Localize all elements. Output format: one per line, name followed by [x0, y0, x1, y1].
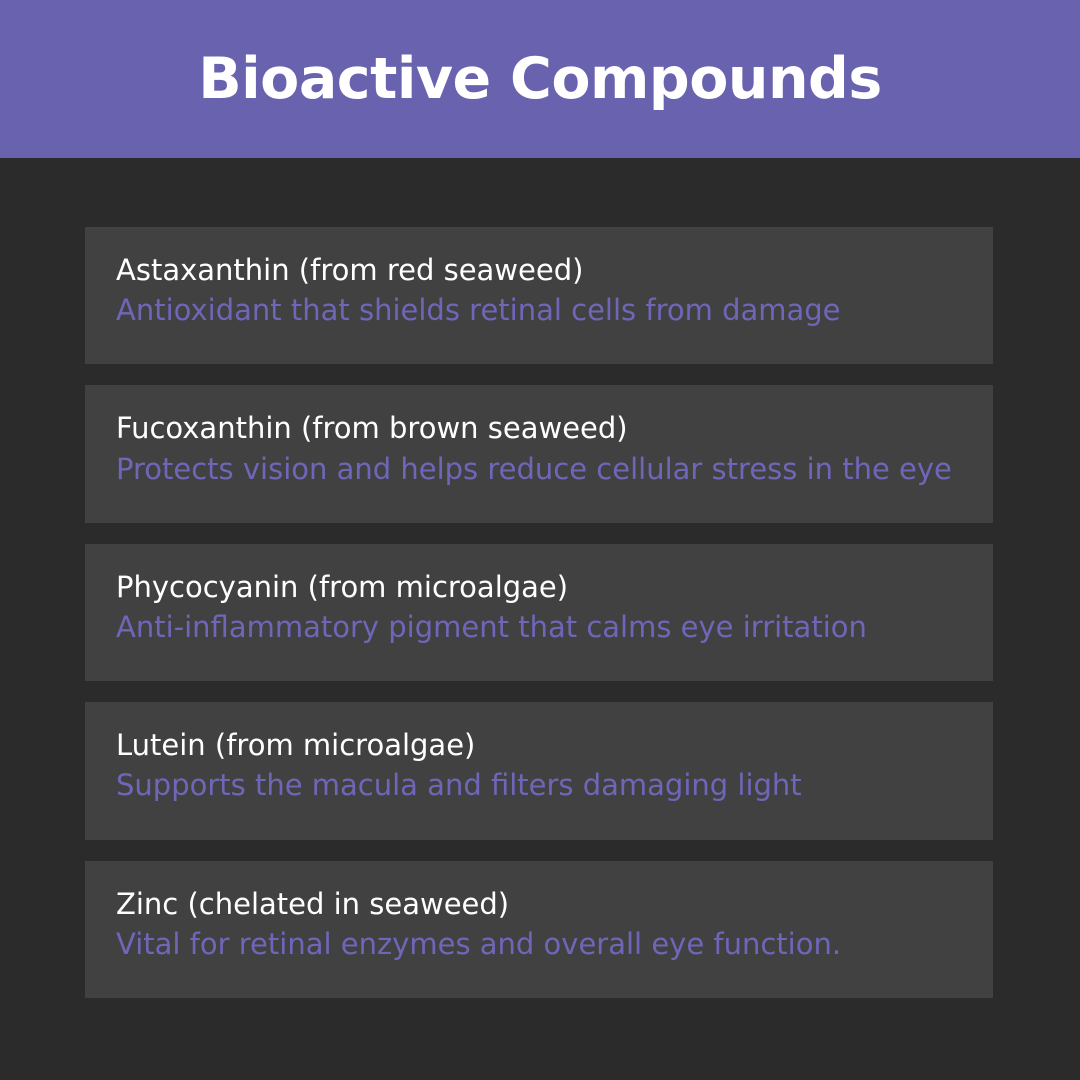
compound-name: Lutein (from microalgae) — [116, 726, 963, 764]
compound-name: Phycocyanin (from microalgae) — [116, 568, 963, 606]
compound-name: Fucoxanthin (from brown seaweed) — [116, 409, 963, 447]
compound-list: Astaxanthin (from red seaweed) Antioxida… — [0, 158, 1080, 1080]
compound-description: Protects vision and helps reduce cellula… — [116, 450, 963, 488]
list-item: Fucoxanthin (from brown seaweed) Protect… — [85, 385, 993, 522]
list-item: Zinc (chelated in seaweed) Vital for ret… — [85, 861, 993, 998]
page-title: Bioactive Compounds — [198, 51, 882, 108]
compound-description: Vital for retinal enzymes and overall ey… — [116, 925, 963, 963]
list-item: Astaxanthin (from red seaweed) Antioxida… — [85, 227, 993, 364]
infographic-page: Bioactive Compounds Astaxanthin (from re… — [0, 0, 1080, 1080]
list-item: Phycocyanin (from microalgae) Anti-infla… — [85, 544, 993, 681]
compound-description: Antioxidant that shields retinal cells f… — [116, 291, 963, 329]
compound-name: Zinc (chelated in seaweed) — [116, 885, 963, 923]
header-banner: Bioactive Compounds — [0, 0, 1080, 158]
compound-description: Supports the macula and filters damaging… — [116, 766, 963, 804]
compound-name: Astaxanthin (from red seaweed) — [116, 251, 963, 289]
list-item: Lutein (from microalgae) Supports the ma… — [85, 702, 993, 839]
compound-description: Anti-inflammatory pigment that calms eye… — [116, 608, 963, 646]
